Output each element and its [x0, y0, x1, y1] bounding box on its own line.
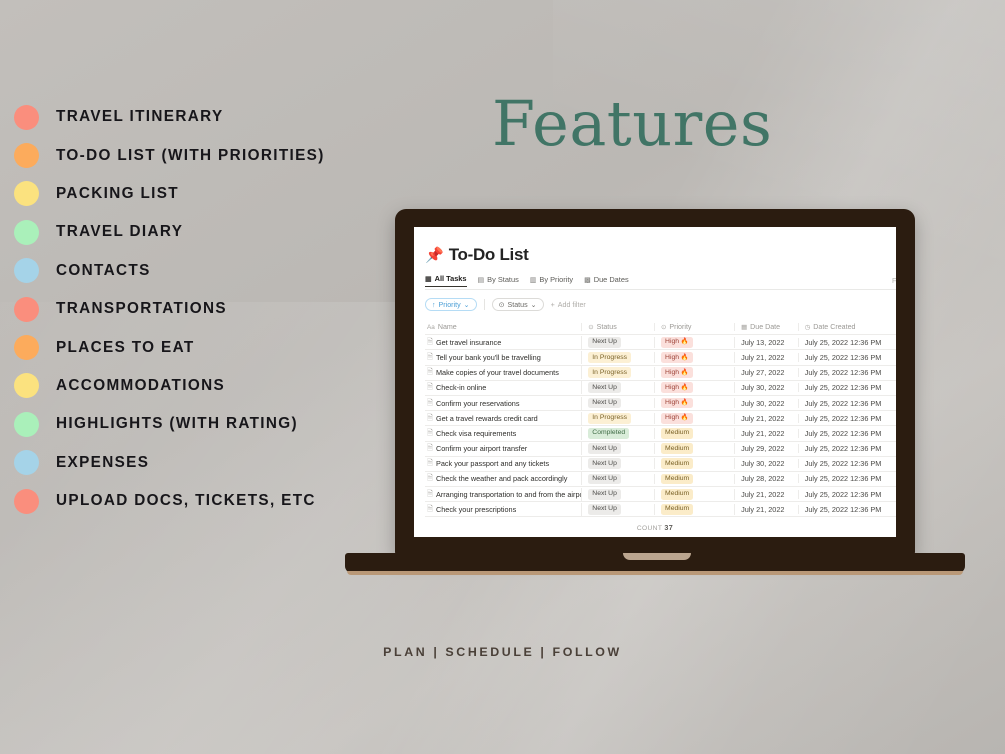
priority-label: Medium	[665, 429, 689, 436]
status-badge: Next Up	[588, 398, 621, 409]
due-date-text: July 30, 2022	[741, 399, 784, 408]
cell-priority[interactable]: High 🔥	[655, 413, 735, 424]
tab-label: Due Dates	[594, 275, 629, 284]
feature-list-item-label: TO-DO LIST (WITH PRIORITIES)	[56, 147, 325, 165]
bullet-dot-salmon	[14, 105, 39, 130]
task-name: Check your prescriptions	[436, 505, 516, 514]
date-created-text: July 25, 2022 12:36 PM	[805, 414, 882, 423]
date-created-text: July 25, 2022 12:36 PM	[805, 505, 882, 514]
feature-list-item: TRAVEL ITINERARY	[14, 98, 414, 136]
cell-due-date[interactable]: July 30, 2022	[735, 383, 799, 392]
status-badge: In Progress	[588, 413, 631, 424]
task-name: Check-in online	[436, 383, 486, 392]
cell-status[interactable]: In Progress	[582, 352, 655, 363]
bullet-dot-orange	[14, 335, 39, 360]
notion-page-title: To-Do List	[449, 245, 529, 265]
column-header-status[interactable]: ⊙Status	[582, 323, 655, 331]
cell-date-created[interactable]: July 25, 2022 12:36 PM	[799, 474, 896, 483]
document-icon: 🗎	[427, 457, 433, 470]
tab-all-tasks[interactable]: ▦All Tasks	[425, 274, 467, 287]
due-date-text: July 21, 2022	[741, 414, 784, 423]
cell-name[interactable]: 🗎Arranging transportation to and from th…	[425, 488, 582, 501]
footer-tagline: PLAN | SCHEDULE | FOLLOW	[0, 645, 1005, 659]
column-type-icon: Aa	[427, 324, 435, 331]
add-filter-button[interactable]: + Add filter	[551, 301, 586, 309]
feature-list-item-label: CONTACTS	[56, 262, 151, 280]
cell-name[interactable]: 🗎Get travel insurance	[425, 336, 582, 349]
due-date-text: July 21, 2022	[741, 429, 784, 438]
priority-badge: High 🔥	[661, 367, 693, 378]
priority-label: High	[665, 384, 679, 391]
due-date-text: July 30, 2022	[741, 459, 784, 468]
feature-list-item-label: TRANSPORTATIONS	[56, 300, 227, 318]
priority-badge: Medium	[661, 428, 693, 439]
cell-status[interactable]: Next Up	[582, 398, 655, 409]
tab-by-status[interactable]: ▤By Status	[478, 275, 519, 287]
laptop-lid: 📌 To-Do List ▦All Tasks▤By Status▥By Pri…	[395, 209, 915, 555]
tasks-table: AaName⊙Status⊙Priority▦Due Date◷Date Cre…	[425, 320, 896, 517]
feature-list: TRAVEL ITINERARYTO-DO LIST (WITH PRIORIT…	[14, 98, 414, 520]
table-row[interactable]: 🗎Check visa requirementsCompletedMediumJ…	[425, 426, 896, 441]
priority-label: Medium	[665, 505, 689, 512]
status-filter-label: Status	[508, 301, 528, 309]
table-row[interactable]: 🗎Get a travel rewards credit cardIn Prog…	[425, 411, 896, 426]
cell-status[interactable]: Next Up	[582, 443, 655, 454]
bullet-dot-green	[14, 220, 39, 245]
priority-label: Medium	[665, 445, 689, 452]
status-badge: Next Up	[588, 443, 621, 454]
status-badge: Next Up	[588, 458, 621, 469]
cell-priority[interactable]: High 🔥	[655, 352, 735, 363]
due-date-text: July 21, 2022	[741, 490, 784, 499]
column-type-icon: ◷	[805, 323, 811, 331]
bullet-dot-green	[14, 412, 39, 437]
cell-name[interactable]: 🗎Pack your passport and any tickets	[425, 457, 582, 470]
cell-date-created[interactable]: July 25, 2022 12:36 PM	[799, 353, 896, 362]
date-created-text: July 25, 2022 12:36 PM	[805, 490, 882, 499]
priority-badge: High 🔥	[661, 337, 693, 348]
task-name: Tell your bank you'll be travelling	[436, 353, 541, 362]
cell-due-date[interactable]: July 27, 2022	[735, 368, 799, 377]
cell-name[interactable]: 🗎Confirm your airport transfer	[425, 442, 582, 455]
chevron-down-icon: ⌄	[531, 300, 537, 309]
cell-priority[interactable]: Medium	[655, 474, 735, 485]
cell-name[interactable]: 🗎Confirm your reservations	[425, 397, 582, 410]
column-header-label: Due Date	[750, 323, 780, 331]
feature-list-item-label: UPLOAD DOCS, TICKETS, ETC	[56, 492, 316, 510]
priority-label: High	[665, 338, 679, 345]
cell-due-date[interactable]: July 28, 2022	[735, 474, 799, 483]
table-row[interactable]: 🗎Tell your bank you'll be travellingIn P…	[425, 350, 896, 365]
notion-app: 📌 To-Do List ▦All Tasks▤By Status▥By Pri…	[414, 227, 896, 537]
bullet-dot-yellow	[14, 181, 39, 206]
table-row[interactable]: 🗎Get travel insuranceNext UpHigh 🔥July 1…	[425, 335, 896, 350]
table-row[interactable]: 🗎Confirm your airport transferNext UpMed…	[425, 442, 896, 457]
filter-divider	[484, 299, 485, 310]
due-date-text: July 21, 2022	[741, 505, 784, 514]
plus-icon: +	[551, 301, 555, 309]
task-name: Pack your passport and any tickets	[436, 459, 549, 468]
cell-due-date[interactable]: July 30, 2022	[735, 399, 799, 408]
cell-due-date[interactable]: July 13, 2022	[735, 338, 799, 347]
cell-priority[interactable]: Medium	[655, 458, 735, 469]
fire-icon: 🔥	[679, 354, 689, 361]
cell-status[interactable]: Next Up	[582, 382, 655, 393]
date-created-text: July 25, 2022 12:36 PM	[805, 383, 882, 392]
sort-priority-pill[interactable]: ↑ Priority ⌄	[425, 298, 477, 311]
bullet-dot-salmon	[14, 297, 39, 322]
due-date-text: July 13, 2022	[741, 338, 784, 347]
date-created-text: July 25, 2022 12:36 PM	[805, 444, 882, 453]
document-icon: 🗎	[427, 442, 433, 455]
status-badge: Next Up	[588, 337, 621, 348]
priority-label: Medium	[665, 460, 689, 467]
priority-label: High	[665, 414, 679, 421]
tab-due-dates[interactable]: ▩Due Dates	[584, 275, 629, 287]
count-value: 37	[664, 523, 673, 532]
filter-bar: ↑ Priority ⌄ ⊙ Status ⌄ + Add filter	[425, 298, 896, 311]
table-row[interactable]: 🗎Check the weather and pack accordinglyN…	[425, 472, 896, 487]
view-tabs: ▦All Tasks▤By Status▥By Priority▩Due Dat…	[425, 274, 896, 290]
fire-icon: 🔥	[679, 338, 689, 345]
cell-name[interactable]: 🗎Check-in online	[425, 381, 582, 394]
date-created-text: July 25, 2022 12:36 PM	[805, 474, 882, 483]
date-created-text: July 25, 2022 12:36 PM	[805, 353, 882, 362]
priority-badge: High 🔥	[661, 352, 693, 363]
column-type-icon: ⊙	[661, 323, 666, 331]
cell-status[interactable]: Next Up	[582, 458, 655, 469]
column-type-icon: ⊙	[588, 323, 593, 331]
status-badge: In Progress	[588, 367, 631, 378]
cell-status[interactable]: Next Up	[582, 489, 655, 500]
task-name: Make copies of your travel documents	[436, 368, 559, 377]
feature-list-item: HIGHLIGHTS (WITH RATING)	[14, 405, 414, 443]
cell-status[interactable]: Next Up	[582, 504, 655, 515]
priority-badge: High 🔥	[661, 398, 693, 409]
status-badge: In Progress	[588, 352, 631, 363]
bullet-dot-salmon	[14, 489, 39, 514]
filter-label-truncated[interactable]: Filt	[892, 276, 896, 285]
tab-label: All Tasks	[435, 274, 467, 283]
feature-list-item-label: ACCOMMODATIONS	[56, 377, 225, 395]
cell-due-date[interactable]: July 21, 2022	[735, 490, 799, 499]
due-date-text: July 30, 2022	[741, 383, 784, 392]
table-row[interactable]: 🗎Make copies of your travel documentsIn …	[425, 366, 896, 381]
task-name: Get a travel rewards credit card	[436, 414, 538, 423]
cell-name[interactable]: 🗎Check your prescriptions	[425, 503, 582, 516]
task-name: Get travel insurance	[436, 338, 501, 347]
document-icon: 🗎	[427, 488, 433, 501]
document-icon: 🗎	[427, 336, 433, 349]
cell-date-created[interactable]: July 25, 2022 12:36 PM	[799, 505, 896, 514]
tab-label: By Priority	[539, 275, 573, 284]
column-header-date-created[interactable]: ◷Date Created	[799, 323, 896, 331]
document-icon: 🗎	[427, 472, 433, 485]
date-created-text: July 25, 2022 12:36 PM	[805, 429, 882, 438]
table-row[interactable]: 🗎Arranging transportation to and from th…	[425, 487, 896, 502]
document-icon: 🗎	[427, 397, 433, 410]
cell-due-date[interactable]: July 30, 2022	[735, 459, 799, 468]
column-header-label: Status	[597, 323, 617, 331]
document-icon: 🗎	[427, 412, 433, 425]
row-count: COUNT 37	[637, 523, 673, 532]
status-badge: Next Up	[588, 504, 621, 515]
status-circle-icon: ⊙	[499, 300, 505, 309]
count-label: COUNT	[637, 525, 662, 532]
feature-list-item: UPLOAD DOCS, TICKETS, ETC	[14, 482, 414, 520]
feature-list-item-label: EXPENSES	[56, 454, 149, 472]
priority-label: Medium	[665, 475, 689, 482]
laptop-mockup: 📌 To-Do List ▦All Tasks▤By Status▥By Pri…	[395, 209, 915, 567]
cell-priority[interactable]: High 🔥	[655, 367, 735, 378]
cell-date-created[interactable]: July 25, 2022 12:36 PM	[799, 429, 896, 438]
cell-priority[interactable]: High 🔥	[655, 398, 735, 409]
pushpin-icon: 📌	[425, 248, 444, 263]
cell-date-created[interactable]: July 25, 2022 12:36 PM	[799, 338, 896, 347]
document-icon: 🗎	[427, 351, 433, 364]
cell-priority[interactable]: High 🔥	[655, 382, 735, 393]
task-name: Check visa requirements	[436, 429, 516, 438]
arrow-up-icon: ↑	[432, 301, 436, 309]
cell-date-created[interactable]: July 25, 2022 12:36 PM	[799, 414, 896, 423]
cell-status[interactable]: Next Up	[582, 337, 655, 348]
laptop-base-lip	[347, 571, 963, 575]
tab-label: By Status	[487, 275, 519, 284]
date-created-text: July 25, 2022 12:36 PM	[805, 459, 882, 468]
document-icon: 🗎	[427, 503, 433, 516]
priority-badge: Medium	[661, 458, 693, 469]
cell-status[interactable]: In Progress	[582, 413, 655, 424]
date-created-text: July 25, 2022 12:36 PM	[805, 338, 882, 347]
bullet-dot-orange	[14, 143, 39, 168]
cell-priority[interactable]: Medium	[655, 428, 735, 439]
cell-date-created[interactable]: July 25, 2022 12:36 PM	[799, 490, 896, 499]
due-date-text: July 27, 2022	[741, 368, 784, 377]
status-badge: Completed	[588, 428, 629, 439]
column-type-icon: ▦	[741, 323, 747, 331]
bullet-dot-blue	[14, 258, 39, 283]
fire-icon: 🔥	[679, 384, 689, 391]
cell-name[interactable]: 🗎Make copies of your travel documents	[425, 366, 582, 379]
feature-list-item: EXPENSES	[14, 444, 414, 482]
cell-date-created[interactable]: July 25, 2022 12:36 PM	[799, 383, 896, 392]
due-date-text: July 29, 2022	[741, 444, 784, 453]
feature-list-item-label: TRAVEL ITINERARY	[56, 108, 224, 126]
task-name: Check the weather and pack accordingly	[436, 474, 567, 483]
cell-priority[interactable]: Medium	[655, 443, 735, 454]
task-name: Confirm your reservations	[436, 399, 520, 408]
table-header-row: AaName⊙Status⊙Priority▦Due Date◷Date Cre…	[425, 320, 896, 335]
tab-by-priority[interactable]: ▥By Priority	[530, 275, 573, 287]
document-icon: 🗎	[427, 366, 433, 379]
table-row[interactable]: 🗎Pack your passport and any ticketsNext …	[425, 457, 896, 472]
feature-list-item: TO-DO LIST (WITH PRIORITIES)	[14, 136, 414, 174]
tab-view-icon: ▤	[478, 276, 485, 284]
priority-badge: High 🔥	[661, 382, 693, 393]
feature-list-item: ACCOMMODATIONS	[14, 367, 414, 405]
table-row[interactable]: 🗎Confirm your reservationsNext UpHigh 🔥J…	[425, 396, 896, 411]
due-date-text: July 28, 2022	[741, 474, 784, 483]
cell-date-created[interactable]: July 25, 2022 12:36 PM	[799, 399, 896, 408]
feature-list-item: TRAVEL DIARY	[14, 213, 414, 251]
priority-badge: Medium	[661, 474, 693, 485]
cell-date-created[interactable]: July 25, 2022 12:36 PM	[799, 459, 896, 468]
bullet-dot-blue	[14, 450, 39, 475]
status-badge: Next Up	[588, 489, 621, 500]
cell-due-date[interactable]: July 21, 2022	[735, 505, 799, 514]
page-title-features: Features	[492, 93, 772, 155]
tab-view-icon: ▩	[584, 276, 591, 284]
sort-priority-label: Priority	[439, 301, 461, 309]
status-filter-pill[interactable]: ⊙ Status ⌄	[492, 298, 544, 311]
cell-name[interactable]: 🗎Get a travel rewards credit card	[425, 412, 582, 425]
cell-priority[interactable]: High 🔥	[655, 337, 735, 348]
cell-status[interactable]: Completed	[582, 428, 655, 439]
table-footer: COUNT 37	[425, 523, 896, 532]
feature-list-item-label: PLACES TO EAT	[56, 339, 195, 357]
feature-list-item-label: HIGHLIGHTS (WITH RATING)	[56, 415, 298, 433]
laptop-screen: 📌 To-Do List ▦All Tasks▤By Status▥By Pri…	[414, 227, 896, 537]
chevron-down-icon: ⌄	[464, 300, 470, 309]
feature-list-item: CONTACTS	[14, 252, 414, 290]
column-header-label: Priority	[669, 323, 691, 331]
priority-badge: Medium	[661, 504, 693, 515]
document-icon: 🗎	[427, 381, 433, 394]
column-header-name[interactable]: AaName	[425, 323, 582, 331]
priority-badge: Medium	[661, 443, 693, 454]
status-badge: Next Up	[588, 382, 621, 393]
laptop-base-notch	[623, 553, 691, 560]
feature-list-item-label: TRAVEL DIARY	[56, 223, 183, 241]
feature-list-item: TRANSPORTATIONS	[14, 290, 414, 328]
feature-list-item: PLACES TO EAT	[14, 328, 414, 366]
column-header-label: Name	[438, 323, 457, 331]
cell-date-created[interactable]: July 25, 2022 12:36 PM	[799, 444, 896, 453]
table-row[interactable]: 🗎Check your prescriptionsNext UpMediumJu…	[425, 502, 896, 517]
cell-due-date[interactable]: July 21, 2022	[735, 429, 799, 438]
column-header-label: Date Created	[813, 323, 855, 331]
cell-due-date[interactable]: July 29, 2022	[735, 444, 799, 453]
fire-icon: 🔥	[679, 399, 689, 406]
fire-icon: 🔥	[679, 414, 689, 421]
cell-priority[interactable]: Medium	[655, 504, 735, 515]
date-created-text: July 25, 2022 12:36 PM	[805, 368, 882, 377]
priority-badge: Medium	[661, 489, 693, 500]
cell-name[interactable]: 🗎Tell your bank you'll be travelling	[425, 351, 582, 364]
priority-badge: High 🔥	[661, 413, 693, 424]
feature-list-item: PACKING LIST	[14, 175, 414, 213]
priority-label: High	[665, 369, 679, 376]
column-header-due-date[interactable]: ▦Due Date	[735, 323, 799, 331]
priority-label: High	[665, 354, 679, 361]
cell-date-created[interactable]: July 25, 2022 12:36 PM	[799, 368, 896, 377]
bullet-dot-yellow	[14, 373, 39, 398]
date-created-text: July 25, 2022 12:36 PM	[805, 399, 882, 408]
add-filter-label: Add filter	[558, 301, 586, 309]
notion-page-header: 📌 To-Do List	[425, 245, 896, 265]
tab-view-icon: ▥	[530, 276, 537, 284]
priority-label: High	[665, 399, 679, 406]
cell-name[interactable]: 🗎Check visa requirements	[425, 427, 582, 440]
cell-due-date[interactable]: July 21, 2022	[735, 353, 799, 362]
priority-label: Medium	[665, 490, 689, 497]
task-name: Confirm your airport transfer	[436, 444, 527, 453]
status-badge: Next Up	[588, 474, 621, 485]
cell-name[interactable]: 🗎Check the weather and pack accordingly	[425, 472, 582, 485]
document-icon: 🗎	[427, 427, 433, 440]
cell-priority[interactable]: Medium	[655, 489, 735, 500]
cell-due-date[interactable]: July 21, 2022	[735, 414, 799, 423]
feature-list-item-label: PACKING LIST	[56, 185, 179, 203]
column-header-priority[interactable]: ⊙Priority	[655, 323, 735, 331]
fire-icon: 🔥	[679, 369, 689, 376]
cell-status[interactable]: Next Up	[582, 474, 655, 485]
task-name: Arranging transportation to and from the…	[436, 490, 582, 499]
cell-status[interactable]: In Progress	[582, 367, 655, 378]
table-row[interactable]: 🗎Check-in onlineNext UpHigh 🔥July 30, 20…	[425, 381, 896, 396]
due-date-text: July 21, 2022	[741, 353, 784, 362]
tab-view-icon: ▦	[425, 275, 432, 283]
